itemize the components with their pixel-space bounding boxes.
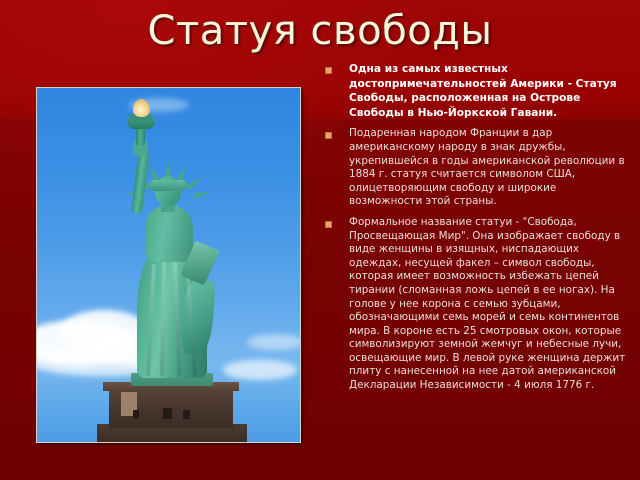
bullet-item: Одна из самых известных достопримечатель… bbox=[325, 62, 630, 120]
statue-crown bbox=[149, 180, 187, 191]
statue-robe-drape bbox=[180, 279, 216, 355]
statue-torso bbox=[145, 206, 193, 262]
statue-photo-frame bbox=[36, 87, 301, 443]
slide-body-content: Одна из самых известных достопримечатель… bbox=[325, 62, 630, 400]
bullet-text: Подаренная народом Франции в дар америка… bbox=[349, 127, 630, 209]
torch-flame-icon bbox=[133, 99, 150, 117]
square-bullet-icon bbox=[325, 221, 332, 228]
statue-of-liberty-image bbox=[37, 88, 300, 442]
bullet-text: Формальное название статуи - "Свобода, П… bbox=[349, 216, 630, 393]
bullet-item: Подаренная народом Франции в дар америка… bbox=[325, 127, 630, 209]
statue-figure bbox=[37, 88, 300, 442]
pedestal-window bbox=[133, 410, 139, 418]
torch-handle bbox=[136, 126, 145, 146]
bullet-item: Формальное название статуи - "Свобода, П… bbox=[325, 216, 630, 393]
crown-spike bbox=[186, 175, 204, 191]
bullet-text: Одна из самых известных достопримечатель… bbox=[349, 62, 630, 120]
slide-title: Статуя свободы bbox=[0, 8, 640, 54]
square-bullet-icon bbox=[325, 67, 332, 74]
square-bullet-icon bbox=[325, 132, 332, 139]
crown-spike bbox=[193, 189, 212, 199]
presentation-slide: Статуя свободы bbox=[0, 0, 640, 480]
pedestal-window bbox=[163, 408, 172, 419]
pedestal-window bbox=[183, 410, 190, 419]
statue-raised-arm bbox=[131, 148, 150, 215]
